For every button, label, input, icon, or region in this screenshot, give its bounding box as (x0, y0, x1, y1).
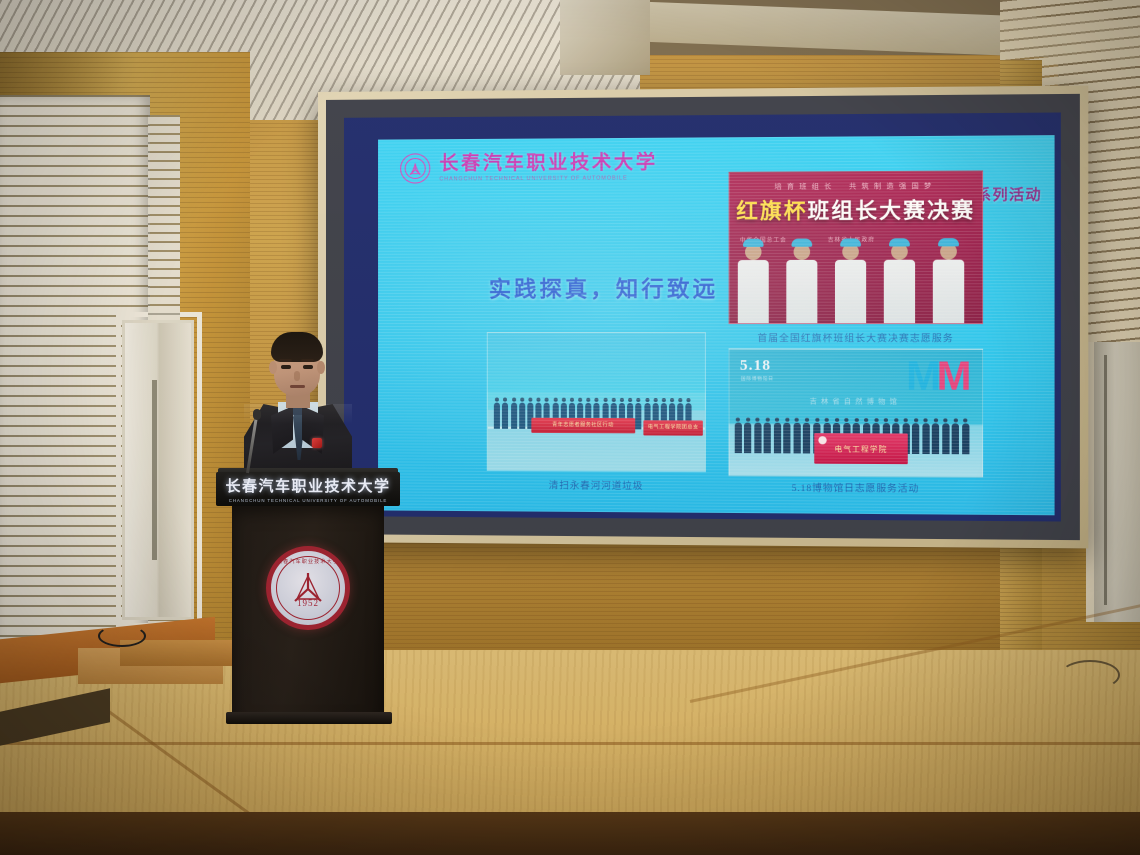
seal-ring-text: 长春汽车职业技术大学 (271, 558, 345, 565)
seal-year: 1952 (271, 598, 345, 608)
right-exit-alcove[interactable] (1086, 342, 1140, 622)
ceiling-soffit (560, 0, 650, 75)
speaker-nose (294, 371, 300, 381)
slide-university-name-cn: 长春汽车职业技术大学 (439, 153, 657, 174)
river-banner-text: 青年志愿者服务社区行动 (531, 418, 635, 434)
right-alcove-bar (1104, 355, 1107, 605)
stage-inlay-line-horizontal (0, 742, 1140, 745)
led-screen[interactable]: 长春汽车职业技术大学 CHANGCHUN TECHNICAL UNIVERSIT… (344, 112, 1061, 521)
contest-banner-subtitle: 培育班组长 共筑制造强国梦 (730, 181, 982, 192)
contest-title-highlight: 红旗杯 (736, 199, 807, 224)
podium-nameplate-en: CHANGCHUN TECHNICAL UNIVERSITY OF AUTOMO… (229, 498, 388, 503)
caption-river-cleanup: 清扫永春河河道垃圾 (487, 477, 706, 493)
contest-banner-title: 红旗杯班组长大赛决赛 (730, 194, 982, 226)
speaker-eye-right (303, 365, 313, 369)
photo-red-flag-cup: 培育班组长 共筑制造强国梦 红旗杯班组长大赛决赛 中华全国总工会 吉林省人民政府 (729, 170, 984, 324)
museum-center-text: 吉林省自然博物馆 (730, 396, 982, 407)
floor-cable-right (1060, 660, 1120, 690)
podium-base (226, 712, 392, 724)
speaker-ear-right (317, 361, 325, 374)
speaker-eyebrow-left (279, 359, 292, 362)
contest-people-row (730, 238, 982, 323)
projection-screen-frame: 长春汽车职业技术大学 CHANGCHUN TECHNICAL UNIVERSIT… (318, 86, 1088, 549)
museum-red-banner: 电气工程学院 (814, 433, 908, 464)
speaker-eye-left (281, 365, 291, 369)
slide-university-branding: 长春汽车职业技术大学 CHANGCHUN TECHNICAL UNIVERSIT… (400, 152, 658, 184)
presentation-slide: 长春汽车职业技术大学 CHANGCHUN TECHNICAL UNIVERSIT… (378, 135, 1055, 515)
university-round-seal-icon: 长春汽车职业技术大学 1952 (266, 546, 350, 630)
lapel-pin-icon (312, 438, 322, 448)
speaker-ear-left (269, 361, 277, 374)
university-trefoil-seal-icon (400, 153, 430, 183)
left-door-handle[interactable] (152, 380, 157, 560)
podium-nameplate-cn: 长春汽车职业技术大学 (225, 475, 390, 496)
river-banner-second-text: 电气工程学院团总支 (644, 420, 703, 435)
museum-date-label: 5.18 (740, 358, 771, 375)
caption-museum-day: 5.18博物馆日志愿服务活动 (729, 479, 984, 495)
contest-title-rest: 班组长大赛决赛 (808, 198, 976, 223)
speaker-mouth (290, 385, 305, 388)
auditorium-scene: 长春汽车职业技术大学 CHANGCHUN TECHNICAL UNIVERSIT… (0, 0, 1140, 855)
museum-logo-icon: MM (906, 356, 967, 397)
photo-river-cleanup: 青年志愿者服务社区行动 电气工程学院团总支 (487, 332, 706, 472)
museum-date-sub: 国际博物馆日 (741, 376, 774, 382)
microphone-head (253, 409, 261, 420)
left-service-door[interactable] (122, 320, 194, 620)
screen-bezel: 长春汽车职业技术大学 CHANGCHUN TECHNICAL UNIVERSIT… (326, 94, 1080, 540)
river-banner-main: 青年志愿者服务社区行动 (531, 418, 635, 434)
photo-museum-day: 5.18 国际博物馆日 MM 吉林省自然博物馆 (729, 348, 984, 477)
slide-university-name-en: CHANGCHUN TECHNICAL UNIVERSITY OF AUTOMO… (439, 175, 657, 182)
slide-university-name-block: 长春汽车职业技术大学 CHANGCHUN TECHNICAL UNIVERSIT… (439, 153, 657, 182)
caption-red-flag-cup: 首届全国红旗杯班组长大赛决赛志愿服务 (729, 330, 984, 344)
speaker-eyebrow-right (301, 359, 314, 362)
seal-inner-ring (276, 556, 340, 620)
museum-banner-text: 电气工程学院 (834, 443, 887, 454)
podium-nameplate: 长春汽车职业技术大学 CHANGCHUN TECHNICAL UNIVERSIT… (216, 472, 400, 506)
stage-front-edge (0, 812, 1140, 855)
speaker-hair (271, 332, 323, 362)
floor-cable (98, 625, 146, 647)
river-banner-second: 电气工程学院团总支 (644, 420, 703, 435)
slide-slogan: 实践探真，知行致远 (489, 271, 718, 304)
lectern-podium[interactable]: 长春汽车职业技术大学 CHANGCHUN TECHNICAL UNIVERSIT… (232, 468, 384, 730)
museum-banner-emblem-icon (818, 436, 826, 444)
